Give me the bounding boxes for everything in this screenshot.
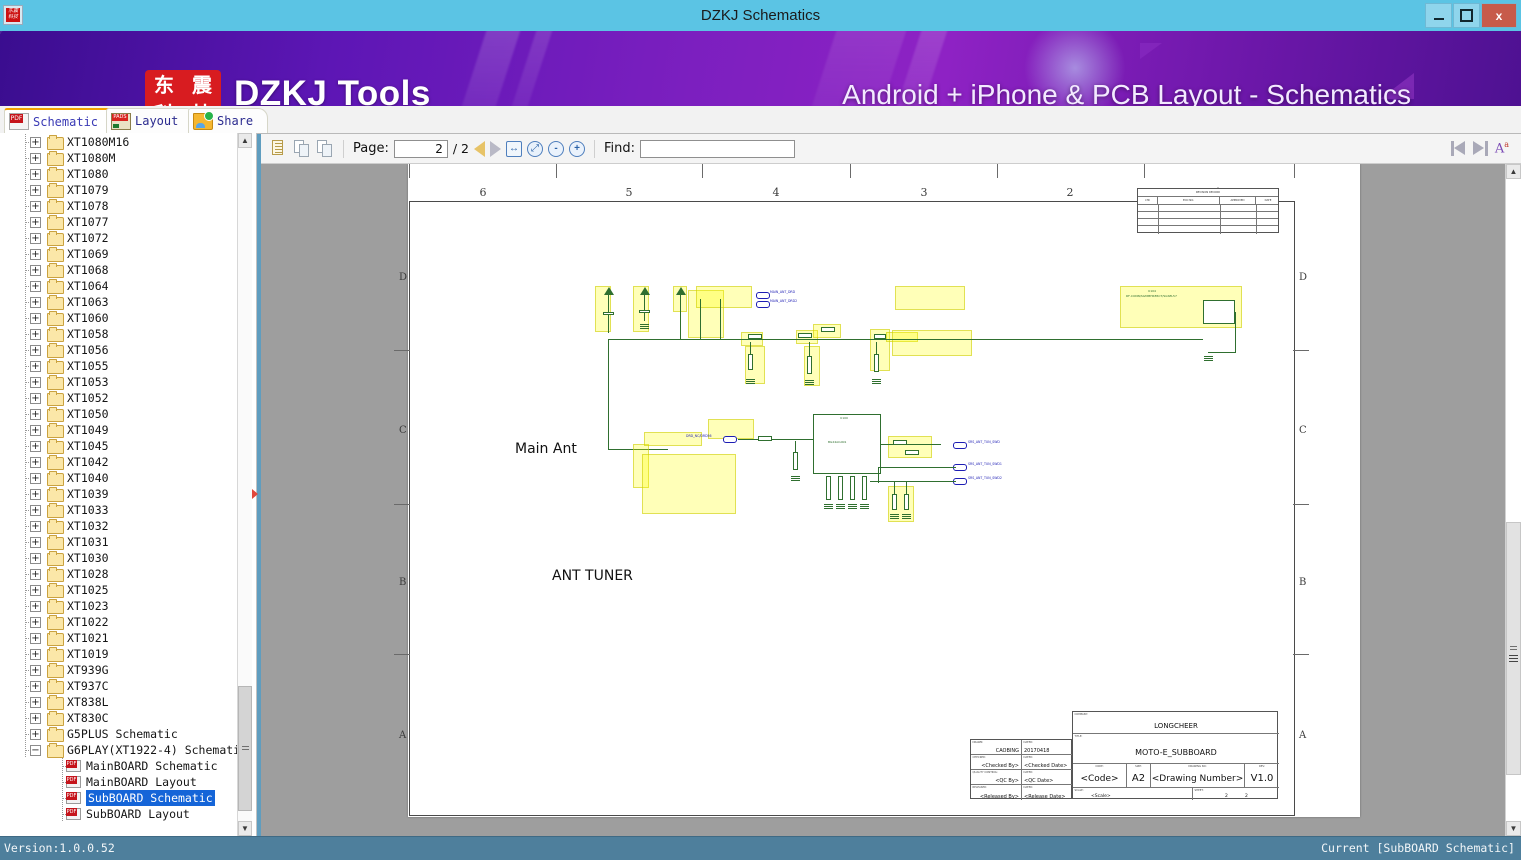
pdf-viewer-canvas[interactable]: 6 5 4 3 2 1 D C B A D C B A Main Ant ANT…	[261, 164, 1506, 836]
tree-item[interactable]: +XT939G	[0, 662, 238, 678]
pdf-file-icon	[66, 776, 81, 788]
company-key: COMPANY:	[1075, 713, 1088, 716]
tab-schematic-label: Schematic	[33, 115, 98, 129]
tree-item[interactable]: +XT1056	[0, 342, 238, 358]
brand-banner: 东 震 科 技 DZKJ Tools Android + iPhone & PC…	[0, 31, 1521, 106]
folder-icon	[47, 649, 64, 662]
title-block: COMPANY: LONGCHEER TITLE: MOTO-E_SUBBOAR…	[1072, 711, 1278, 799]
revision-record-table: REVISION RECORD LTR ECO NO. APPROVED DAT…	[1137, 188, 1279, 233]
expand-toggle-icon[interactable]: +	[30, 473, 41, 484]
expand-toggle-icon[interactable]: +	[30, 425, 41, 436]
close-button[interactable]: x	[1481, 3, 1517, 28]
tree-item[interactable]: +XT1049	[0, 422, 238, 438]
tree-item-label: XT1072	[67, 230, 109, 246]
folder-icon	[47, 265, 64, 278]
zoom-out-button[interactable]: -	[548, 141, 564, 157]
tree-item-label: XT1031	[67, 534, 109, 550]
qc-date-value: <QC Date>	[1024, 778, 1053, 784]
drawing-no-value: <Drawing Number>	[1151, 774, 1244, 784]
net-label: MAIN_ANT_DRD2	[770, 299, 797, 303]
row-label: D	[399, 272, 407, 283]
tree-item[interactable]: +XT1021	[0, 630, 238, 646]
tree-item-label: XT1021	[67, 630, 109, 646]
folder-icon	[47, 297, 64, 310]
folder-icon	[47, 441, 64, 454]
folder-icon	[47, 537, 64, 550]
folder-icon	[47, 601, 64, 614]
company-value: LONGCHEER	[1073, 722, 1279, 730]
tree-item[interactable]: +G5PLUS Schematic	[0, 726, 238, 742]
expand-toggle-icon[interactable]: +	[30, 329, 41, 340]
prev-page-icon[interactable]	[474, 141, 485, 157]
tree-item-label: XT939G	[67, 662, 109, 678]
net-label: SRS_ANT_TUN_SWD1	[968, 462, 1002, 466]
folder-icon	[47, 185, 64, 198]
expand-toggle-icon[interactable]: +	[30, 297, 41, 308]
tree-item[interactable]: +XT1072	[0, 230, 238, 246]
pdf-file-icon	[66, 760, 81, 772]
expand-toggle-icon[interactable]: +	[30, 505, 41, 516]
checked-value: <Checked By>	[981, 763, 1019, 769]
folder-icon	[47, 425, 64, 438]
tree-item[interactable]: +XT1028	[0, 566, 238, 582]
section-title-main-ant: Main Ant	[515, 441, 577, 457]
match-case-icon[interactable]: Aa	[1495, 140, 1509, 156]
tree-item[interactable]: +XT1063	[0, 294, 238, 310]
released-date-key: DATED:	[1024, 786, 1034, 789]
tree-item[interactable]: SubBOARD Schematic	[0, 790, 238, 806]
tree-item-label: XT1033	[67, 502, 109, 518]
tree-item-label: XT1063	[67, 294, 109, 310]
rev-key: REV:	[1245, 765, 1279, 768]
drawn-date-value: 20170418	[1024, 748, 1049, 754]
tree-item-label: XT1077	[67, 214, 109, 230]
file-tree-panel: +XT1080M16+XT1080M+XT1080+XT1079+XT1078+…	[0, 133, 257, 836]
tree-item-label: XT1049	[67, 422, 109, 438]
expand-toggle-icon[interactable]: +	[30, 729, 41, 740]
checked-date-key: DATED:	[1024, 756, 1034, 759]
collapse-toggle-icon[interactable]: −	[30, 745, 41, 756]
document-icon[interactable]	[270, 139, 288, 158]
expand-toggle-icon[interactable]: +	[30, 633, 41, 644]
folder-icon	[47, 313, 64, 326]
find-label: Find:	[604, 141, 635, 156]
expand-toggle-icon[interactable]: +	[30, 185, 41, 196]
tree-item-label: XT1068	[67, 262, 109, 278]
folder-icon	[47, 345, 64, 358]
tree-item[interactable]: +XT1064	[0, 278, 238, 294]
row-label: D	[1299, 272, 1307, 283]
pads-icon	[111, 113, 131, 130]
expand-toggle-icon[interactable]: +	[30, 377, 41, 388]
section-title-ant-tuner: ANT TUNER	[552, 568, 633, 584]
tab-share-label: Share	[217, 114, 253, 128]
tree-item-label: XT1058	[67, 326, 109, 342]
tree-item[interactable]: +XT1077	[0, 214, 238, 230]
tree-item[interactable]: +XT1032	[0, 518, 238, 534]
tree-item-label: XT1030	[67, 550, 109, 566]
pdf-viewer-toolbar: Page: 2 / 2 ↔ ⤢ - + Find: Aa	[261, 134, 1521, 164]
tab-layout[interactable]: Layout	[106, 108, 196, 133]
find-input[interactable]	[640, 140, 795, 158]
net-label: MAIN_ANT_DRD	[770, 290, 795, 294]
expand-toggle-icon[interactable]: +	[30, 553, 41, 564]
schematic-page: 6 5 4 3 2 1 D C B A D C B A Main Ant ANT…	[408, 164, 1360, 817]
pdf-icon	[9, 113, 29, 130]
folder-icon	[47, 729, 64, 742]
code-value: <Code>	[1073, 774, 1126, 784]
tree-item[interactable]: +XT1078	[0, 198, 238, 214]
net-label: SRS_ANT_TUN_SWD2	[968, 476, 1002, 480]
application-window: 东震科技 DZKJ Schematics x 东 震 科 技 DZKJ Tool…	[0, 0, 1521, 859]
tree-item-label: XT1042	[67, 454, 109, 470]
tree-item[interactable]: +XT1079	[0, 182, 238, 198]
tree-item[interactable]: MainBOARD Layout	[0, 774, 238, 790]
drawn-key: DRAWN:	[973, 741, 984, 744]
tree-item-label: XT1079	[67, 182, 109, 198]
expand-toggle-icon[interactable]: +	[30, 313, 41, 324]
folder-icon	[47, 713, 64, 726]
tree-item[interactable]: +XT1019	[0, 646, 238, 662]
panel-splitter-marker[interactable]	[252, 489, 258, 499]
grip-icon	[1510, 646, 1517, 652]
folder-icon	[47, 169, 64, 182]
toolbar-divider	[594, 140, 595, 158]
expand-toggle-icon[interactable]: +	[30, 665, 41, 676]
scroll-down-icon[interactable]: ▼	[1506, 821, 1521, 836]
folder-icon	[47, 329, 64, 342]
status-current-document: Current [SubBOARD Schematic]	[1321, 841, 1515, 855]
expand-toggle-icon[interactable]: +	[30, 457, 41, 468]
expand-toggle-icon[interactable]: +	[30, 345, 41, 356]
folder-icon	[47, 217, 64, 230]
copy-page-alt-icon[interactable]	[316, 139, 334, 158]
tree-item-label: XT1032	[67, 518, 109, 534]
tree-item-label: XT1028	[67, 566, 109, 582]
expand-toggle-icon[interactable]: +	[30, 649, 41, 660]
expand-toggle-icon[interactable]: +	[30, 265, 41, 276]
row-label: C	[399, 425, 407, 436]
tree-item-label: XT1078	[67, 198, 109, 214]
checked-key: CHECKED:	[973, 756, 986, 759]
page-input[interactable]: 2	[394, 140, 448, 158]
tree-item-label: XT1050	[67, 406, 109, 422]
minimize-button[interactable]	[1425, 3, 1452, 28]
column-label: 6	[480, 186, 487, 199]
zoom-in-button[interactable]: +	[569, 141, 585, 157]
size-key: SIZE:	[1127, 765, 1150, 768]
tree-item[interactable]: +XT1031	[0, 534, 238, 550]
tree-item[interactable]: +XT1060	[0, 310, 238, 326]
tree-item-label: XT1023	[67, 598, 109, 614]
tree-item-label: MainBOARD Schematic	[86, 758, 218, 774]
title-key: TITLE:	[1075, 735, 1083, 738]
drawing-no-key: DRAWING NO:	[1151, 765, 1244, 768]
folder-icon	[47, 233, 64, 246]
copy-page-icon[interactable]	[293, 139, 311, 158]
size-value: A2	[1127, 773, 1150, 784]
folder-icon	[47, 457, 64, 470]
menu-grip-icon[interactable]	[1509, 655, 1518, 663]
row-label: A	[399, 730, 406, 741]
released-key: RELEASED:	[973, 786, 987, 789]
tree-item-label: XT1045	[67, 438, 109, 454]
file-tree[interactable]: +XT1080M16+XT1080M+XT1080+XT1079+XT1078+…	[0, 133, 238, 836]
tree-item-label: MainBOARD Layout	[86, 774, 197, 790]
tab-schematic[interactable]: Schematic	[4, 108, 119, 133]
folder-icon	[47, 281, 64, 294]
revision-col-approved: APPROVED	[1220, 197, 1255, 205]
tree-item-label: XT1064	[67, 278, 109, 294]
tree-item[interactable]: +XT1053	[0, 374, 238, 390]
tree-item-label: XT1080	[67, 166, 109, 182]
tree-item[interactable]: +XT1040	[0, 470, 238, 486]
tree-item-label: XT1019	[67, 646, 109, 662]
tree-item-label: XT1060	[67, 310, 109, 326]
folder-icon	[47, 521, 64, 534]
qc-date-key: DATED:	[1024, 771, 1034, 774]
folder-icon	[47, 633, 64, 646]
expand-toggle-icon[interactable]: +	[30, 489, 41, 500]
grip-icon	[242, 746, 249, 752]
column-label: 2	[1067, 186, 1074, 199]
expand-toggle-icon[interactable]: +	[30, 201, 41, 212]
expand-toggle-icon[interactable]: +	[30, 697, 41, 708]
folder-icon	[47, 473, 64, 486]
released-date-value: <Release Date>	[1024, 794, 1065, 800]
tree-item-label: XT830C	[67, 710, 109, 726]
tree-item[interactable]: +XT1045	[0, 438, 238, 454]
maximize-icon	[1460, 9, 1473, 22]
page-label: Page:	[353, 141, 389, 156]
folder-icon	[47, 697, 64, 710]
expand-toggle-icon[interactable]: +	[30, 249, 41, 260]
folder-icon	[47, 681, 64, 694]
window-controls: x	[1424, 3, 1517, 28]
expand-toggle-icon[interactable]: +	[30, 521, 41, 532]
tree-item[interactable]: −G6PLAY(XT1922-4) Schematic	[0, 742, 238, 758]
title-bar: 东震科技 DZKJ Schematics x	[0, 0, 1521, 31]
folder-icon	[47, 137, 64, 150]
folder-icon	[47, 377, 64, 390]
tree-item-label: XT1080M	[67, 150, 115, 166]
tree-item-label: XT937C	[67, 678, 109, 694]
expand-toggle-icon[interactable]: +	[30, 361, 41, 372]
tree-item[interactable]: +XT1023	[0, 598, 238, 614]
tree-item[interactable]: +XT1068	[0, 262, 238, 278]
title-value: MOTO-E_SUBBOARD	[1073, 748, 1279, 757]
tree-item[interactable]: +XT1033	[0, 502, 238, 518]
row-label: A	[1299, 730, 1306, 741]
expand-toggle-icon[interactable]: +	[30, 569, 41, 580]
tree-item[interactable]: +XT1080M16	[0, 134, 238, 150]
column-label: 4	[773, 186, 780, 199]
column-label: 5	[626, 186, 633, 199]
expand-toggle-icon[interactable]: +	[30, 169, 41, 180]
tree-item[interactable]: +XT1022	[0, 614, 238, 630]
next-page-icon[interactable]	[490, 141, 501, 157]
tree-item[interactable]: +XT937C	[0, 678, 238, 694]
folder-share-icon	[193, 113, 213, 130]
expand-toggle-icon[interactable]: +	[30, 713, 41, 724]
banner-subtitle: Android + iPhone & PCB Layout - Schemati…	[842, 79, 1411, 106]
tree-item[interactable]: +XT830C	[0, 710, 238, 726]
net-label: SRS_ANT_TUN_SWD	[968, 440, 1000, 444]
drawn-date-key: DATED:	[1024, 741, 1034, 744]
tree-item[interactable]: +XT1052	[0, 390, 238, 406]
folder-icon	[47, 361, 64, 374]
net-label: DRD_NC/DRD56	[686, 434, 712, 438]
folder-icon	[47, 553, 64, 566]
brand-title: DZKJ Tools	[234, 74, 431, 106]
qc-key: QUALITY CONTROL:	[973, 771, 998, 774]
revision-col-ltr: LTR	[1138, 197, 1157, 205]
tree-item[interactable]: MainBOARD Schematic	[0, 758, 238, 774]
tree-scrollbar[interactable]: ▲ ▼	[237, 133, 252, 836]
folder-icon	[47, 249, 64, 262]
tree-scroll-thumb[interactable]	[238, 686, 252, 811]
folder-icon	[47, 745, 64, 758]
row-label: C	[1299, 425, 1307, 436]
tree-item-label: XT1080M16	[67, 134, 129, 150]
row-label: B	[399, 577, 406, 588]
tree-item[interactable]: +XT1050	[0, 406, 238, 422]
page-total: / 2	[453, 141, 469, 156]
tree-item[interactable]: +XT1055	[0, 358, 238, 374]
folder-icon	[47, 585, 64, 598]
expand-toggle-icon[interactable]: +	[30, 441, 41, 452]
toolbar-divider	[343, 140, 344, 158]
logo-char: 震	[192, 75, 212, 95]
revision-record-title: REVISION RECORD	[1138, 189, 1278, 197]
expand-toggle-icon[interactable]: +	[30, 153, 41, 164]
tree-item-label: G6PLAY(XT1922-4) Schematic	[67, 742, 238, 758]
tree-item-label: SubBOARD Layout	[86, 806, 190, 822]
tree-item-label: XT1052	[67, 390, 109, 406]
folder-icon	[47, 489, 64, 502]
dzkj-logo-icon: 东 震 科 技	[145, 70, 221, 106]
viewer-scroll-thumb[interactable]	[1506, 522, 1521, 775]
logo-char: 东	[154, 75, 174, 95]
scroll-up-icon[interactable]: ▲	[1506, 164, 1521, 179]
tree-item[interactable]: +XT838L	[0, 694, 238, 710]
column-label: 3	[921, 186, 928, 199]
scale-key: SCALE:	[1075, 789, 1084, 792]
code-key: CODE:	[1073, 765, 1126, 768]
sheet-value: 2	[1225, 794, 1228, 799]
tree-item[interactable]: SubBOARD Layout	[0, 806, 238, 822]
revision-col-date: DATE	[1256, 197, 1280, 205]
folder-icon	[47, 201, 64, 214]
expand-toggle-icon[interactable]: +	[30, 617, 41, 628]
expand-toggle-icon[interactable]: +	[30, 537, 41, 548]
pdf-file-icon	[66, 792, 81, 804]
expand-toggle-icon[interactable]: +	[30, 217, 41, 228]
tree-item[interactable]: +XT1080M	[0, 150, 238, 166]
expand-toggle-icon[interactable]: +	[30, 393, 41, 404]
expand-toggle-icon[interactable]: +	[30, 281, 41, 292]
tree-item-label: XT838L	[67, 694, 109, 710]
qc-value: <QC By>	[995, 778, 1019, 784]
sheet-of-value: 2	[1245, 794, 1248, 799]
drawn-value: CAOBING	[996, 748, 1019, 754]
rev-value: V1.0	[1245, 773, 1279, 784]
scroll-up-icon[interactable]: ▲	[238, 133, 252, 148]
expand-toggle-icon[interactable]: +	[30, 681, 41, 692]
folder-icon	[47, 617, 64, 630]
status-bar: Version:1.0.0.52 Current [SubBOARD Schem…	[0, 836, 1521, 860]
find-next-icon[interactable]	[1473, 141, 1490, 156]
window-title: DZKJ Schematics	[0, 0, 1521, 31]
folder-icon	[47, 665, 64, 678]
sheet-key: SHEET:	[1195, 789, 1204, 792]
scroll-down-icon[interactable]: ▼	[238, 821, 252, 836]
tree-item[interactable]: +XT1030	[0, 550, 238, 566]
checked-date-value: <Checked Date>	[1024, 763, 1067, 769]
folder-icon	[47, 409, 64, 422]
expand-toggle-icon[interactable]: +	[30, 601, 41, 612]
tree-item-label: XT1040	[67, 470, 109, 486]
tree-item-label: XT1069	[67, 246, 109, 262]
minimize-icon	[1434, 18, 1444, 20]
released-value: <Released By>	[980, 794, 1019, 800]
expand-toggle-icon[interactable]: +	[30, 137, 41, 148]
tree-item[interactable]: +XT1025	[0, 582, 238, 598]
main-tab-strip: Schematic Layout Share Welcome SubBOARD …	[0, 106, 1521, 134]
tree-item[interactable]: +XT1042	[0, 454, 238, 470]
scale-value: <Scale>	[1091, 794, 1111, 799]
tree-item-label: XT1055	[67, 358, 109, 374]
expand-toggle-icon[interactable]: +	[30, 585, 41, 596]
folder-icon	[47, 153, 64, 166]
row-label: B	[1299, 577, 1306, 588]
find-prev-icon[interactable]	[1451, 141, 1468, 156]
expand-toggle-icon[interactable]: +	[30, 409, 41, 420]
revision-col-eco: ECO NO.	[1158, 197, 1219, 205]
expand-toggle-icon[interactable]: +	[30, 233, 41, 244]
folder-icon	[47, 393, 64, 406]
viewer-scrollbar[interactable]: ▲ ▼	[1505, 164, 1521, 836]
tree-item-label: XT1025	[67, 582, 109, 598]
tab-layout-label: Layout	[135, 114, 178, 128]
tree-item-label: XT1039	[67, 486, 109, 502]
tree-item-label: XT1056	[67, 342, 109, 358]
maximize-button[interactable]	[1453, 3, 1480, 28]
tree-item[interactable]: +XT1080	[0, 166, 238, 182]
folder-icon	[47, 505, 64, 518]
fit-width-icon[interactable]: ↔	[506, 141, 522, 157]
pdf-file-icon	[66, 808, 81, 820]
tree-item[interactable]: +XT1069	[0, 246, 238, 262]
tree-item-label: SubBOARD Schematic	[86, 790, 215, 806]
tree-item-label: G5PLUS Schematic	[67, 726, 178, 742]
tree-item-label: XT1022	[67, 614, 109, 630]
status-version: Version:1.0.0.52	[4, 841, 115, 855]
approval-stamp-block: DRAWN:CAOBING DATED:20170418 CHECKED:<Ch…	[970, 739, 1072, 799]
tree-item[interactable]: +XT1058	[0, 326, 238, 342]
tree-item[interactable]: +XT1039	[0, 486, 238, 502]
folder-icon	[47, 569, 64, 582]
banner-triangle	[1140, 43, 1162, 59]
fit-page-icon[interactable]: ⤢	[527, 141, 543, 157]
tree-item-label: XT1053	[67, 374, 109, 390]
tab-share[interactable]: Share	[188, 108, 268, 133]
